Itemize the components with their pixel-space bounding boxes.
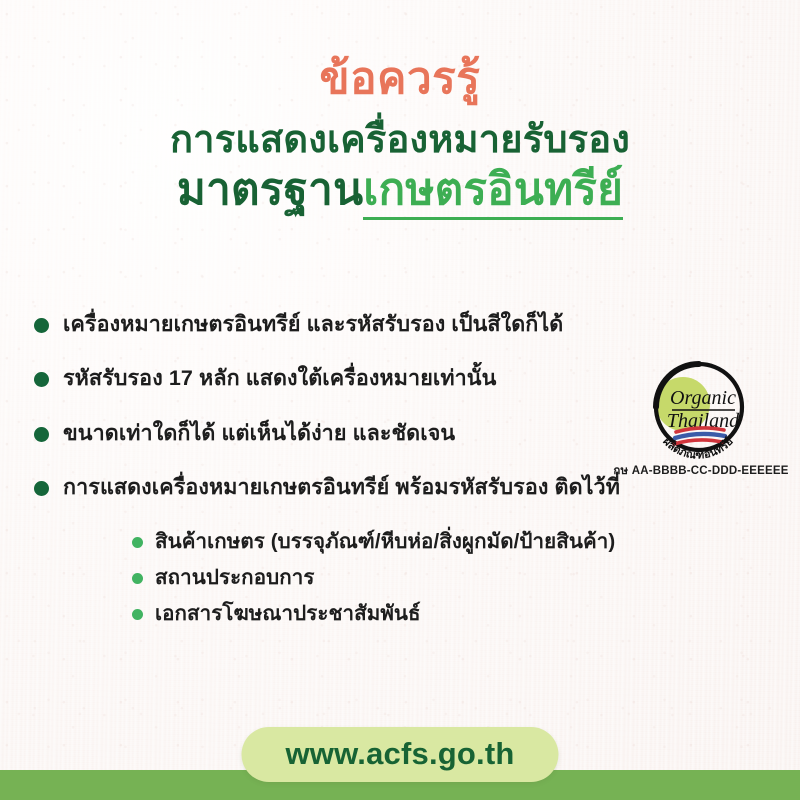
sub-bullet-dot-icon — [132, 573, 143, 584]
sub-bullet-dot-icon — [132, 537, 143, 548]
logo-word-organic: Organic — [670, 387, 736, 409]
title-line-3-dark: มาตรฐาน — [177, 165, 363, 214]
poster-header: ข้อควรรู้ การแสดงเครื่องหมายรับรอง มาตรฐ… — [0, 0, 800, 214]
bullet-text: เครื่องหมายเกษตรอินทรีย์ และรหัสรับรอง เ… — [63, 310, 563, 338]
sub-bullet-item: สินค้าเกษตร (บรรจุภัณฑ์/หีบห่อ/สิ่งผูกมั… — [132, 528, 774, 555]
certification-code: กษ AA-BBBB-CC-DDD-EEEEEE — [608, 462, 794, 480]
sub-bullet-item: สถานประกอบการ — [132, 564, 774, 591]
bullet-dot-icon — [34, 318, 49, 333]
title-line-3-bright: เกษตรอินทรีย์ — [363, 165, 623, 220]
flag-stripe-blue-icon — [675, 434, 725, 438]
sub-bullet-text: สินค้าเกษตร (บรรจุภัณฑ์/หีบห่อ/สิ่งผูกมั… — [155, 528, 615, 555]
website-url-text: www.acfs.go.th — [285, 736, 514, 771]
sub-bullet-dot-icon — [132, 609, 143, 620]
infographic-poster: ข้อควรรู้ การแสดงเครื่องหมายรับรอง มาตรฐ… — [0, 0, 800, 800]
bullet-text: ขนาดเท่าใดก็ได้ แต่เห็นได้ง่าย และชัดเจน — [63, 419, 455, 447]
sub-bullet-list: สินค้าเกษตร (บรรจุภัณฑ์/หีบห่อ/สิ่งผูกมั… — [132, 528, 774, 627]
title-line-3: มาตรฐานเกษตรอินทรีย์ — [0, 166, 800, 214]
sub-bullet-text: สถานประกอบการ — [155, 564, 314, 591]
sub-bullet-item: เอกสารโฆษณาประชาสัมพันธ์ — [132, 600, 774, 627]
bullet-dot-icon — [34, 427, 49, 442]
sub-bullet-text: เอกสารโฆษณาประชาสัมพันธ์ — [155, 600, 421, 627]
bullet-text: รหัสรับรอง 17 หลัก แสดงใต้เครื่องหมายเท่… — [63, 364, 496, 392]
title-kicker: ข้อควรรู้ — [0, 56, 800, 102]
bullet-text: การแสดงเครื่องหมายเกษตรอินทรีย์ พร้อมรหั… — [63, 473, 620, 501]
flag-stripe-red-bottom-icon — [674, 440, 722, 444]
website-url-pill[interactable]: www.acfs.go.th — [241, 727, 558, 782]
bullet-dot-icon — [34, 481, 49, 496]
bullet-item: เครื่องหมายเกษตรอินทรีย์ และรหัสรับรอง เ… — [34, 310, 774, 338]
title-line-2: การแสดงเครื่องหมายรับรอง — [0, 120, 800, 162]
organic-thailand-logo-block: Organic Thailand ผลิตภัณฑ์อินทรีย์ กษ AA… — [608, 360, 794, 480]
bullet-dot-icon — [34, 372, 49, 387]
organic-thailand-seal-icon: Organic Thailand ผลิตภัณฑ์อินทรีย์ — [631, 360, 771, 460]
